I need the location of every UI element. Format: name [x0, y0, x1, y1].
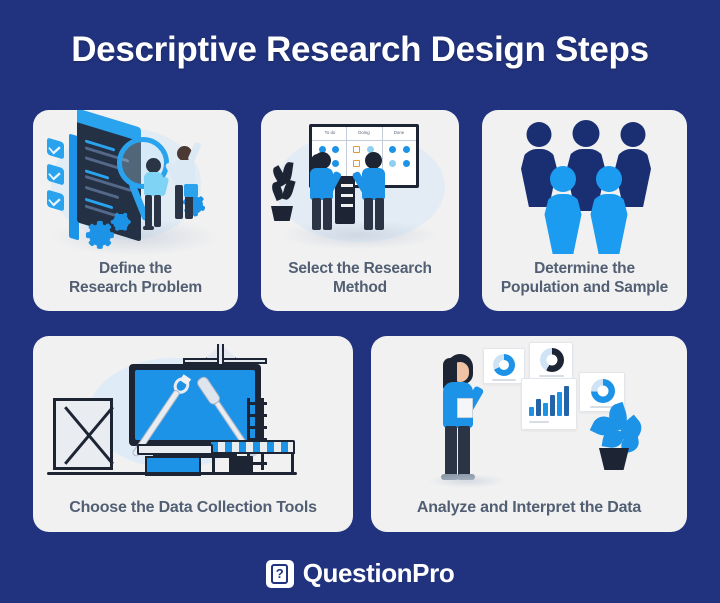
step-label-line1: Define the — [39, 260, 232, 278]
plant-pot-icon — [599, 448, 629, 470]
step-label-line1: Analyze and Interpret the Data — [377, 499, 681, 518]
step-card-label: Select the Research Method — [261, 260, 459, 311]
step-label-line2: Research Problem — [39, 279, 232, 297]
footer-branding: ? QuestionPro — [0, 558, 720, 589]
illustration-magnifier-document-checklist-icon — [33, 110, 238, 260]
person-figure — [307, 152, 339, 230]
step-card-analyze-and-interpret-data: Analyze and Interpret the Data — [371, 336, 687, 532]
chart-card-bar — [521, 378, 577, 430]
chart-card-donut — [483, 348, 525, 384]
step-label-line1: Choose the Data Collection Tools — [39, 499, 347, 518]
step-card-select-research-method: To do Doing Done — [261, 110, 459, 311]
person-figure — [141, 158, 167, 234]
chart-card-donut — [529, 342, 573, 380]
person-figure — [357, 152, 389, 230]
illustration-kanban-board-team-icon: To do Doing Done — [261, 110, 459, 260]
person-figure — [171, 142, 199, 226]
infographic-root: Descriptive Research Design Steps — [0, 0, 720, 603]
step-card-label: Choose the Data Collection Tools — [33, 499, 353, 532]
person-figure — [437, 354, 487, 482]
step-label-line1: Determine the — [488, 260, 681, 278]
questionpro-logo-icon: ? — [266, 560, 294, 588]
illustration-people-group-icon — [482, 110, 687, 260]
brand-name: QuestionPro — [303, 558, 455, 589]
illustration-presenter-charts-icon — [371, 336, 687, 499]
step-card-label: Analyze and Interpret the Data — [371, 499, 687, 532]
step-label-line1: Select the Research — [267, 260, 453, 278]
step-label-line2: Population and Sample — [488, 279, 681, 297]
scaffold-icon — [53, 398, 113, 470]
step-card-determine-population-and-sample: Determine the Population and Sample — [482, 110, 687, 311]
kanban-column-todo: To do — [313, 130, 347, 135]
person-icon-light — [542, 166, 584, 250]
logo-question-glyph: ? — [271, 564, 288, 584]
kanban-column-done: Done — [382, 130, 416, 135]
step-card-label: Determine the Population and Sample — [482, 260, 687, 311]
step-card-define-research-problem: Define the Research Problem — [33, 110, 238, 311]
kanban-column-doing: Doing — [347, 130, 381, 135]
person-icon-light — [588, 166, 630, 250]
step-label-line2: Method — [267, 279, 453, 297]
illustration-crane-monitor-tools-icon — [33, 336, 353, 499]
page-title: Descriptive Research Design Steps — [0, 30, 720, 70]
step-card-choose-data-collection-tools: Choose the Data Collection Tools — [33, 336, 353, 532]
step-card-label: Define the Research Problem — [33, 260, 238, 311]
